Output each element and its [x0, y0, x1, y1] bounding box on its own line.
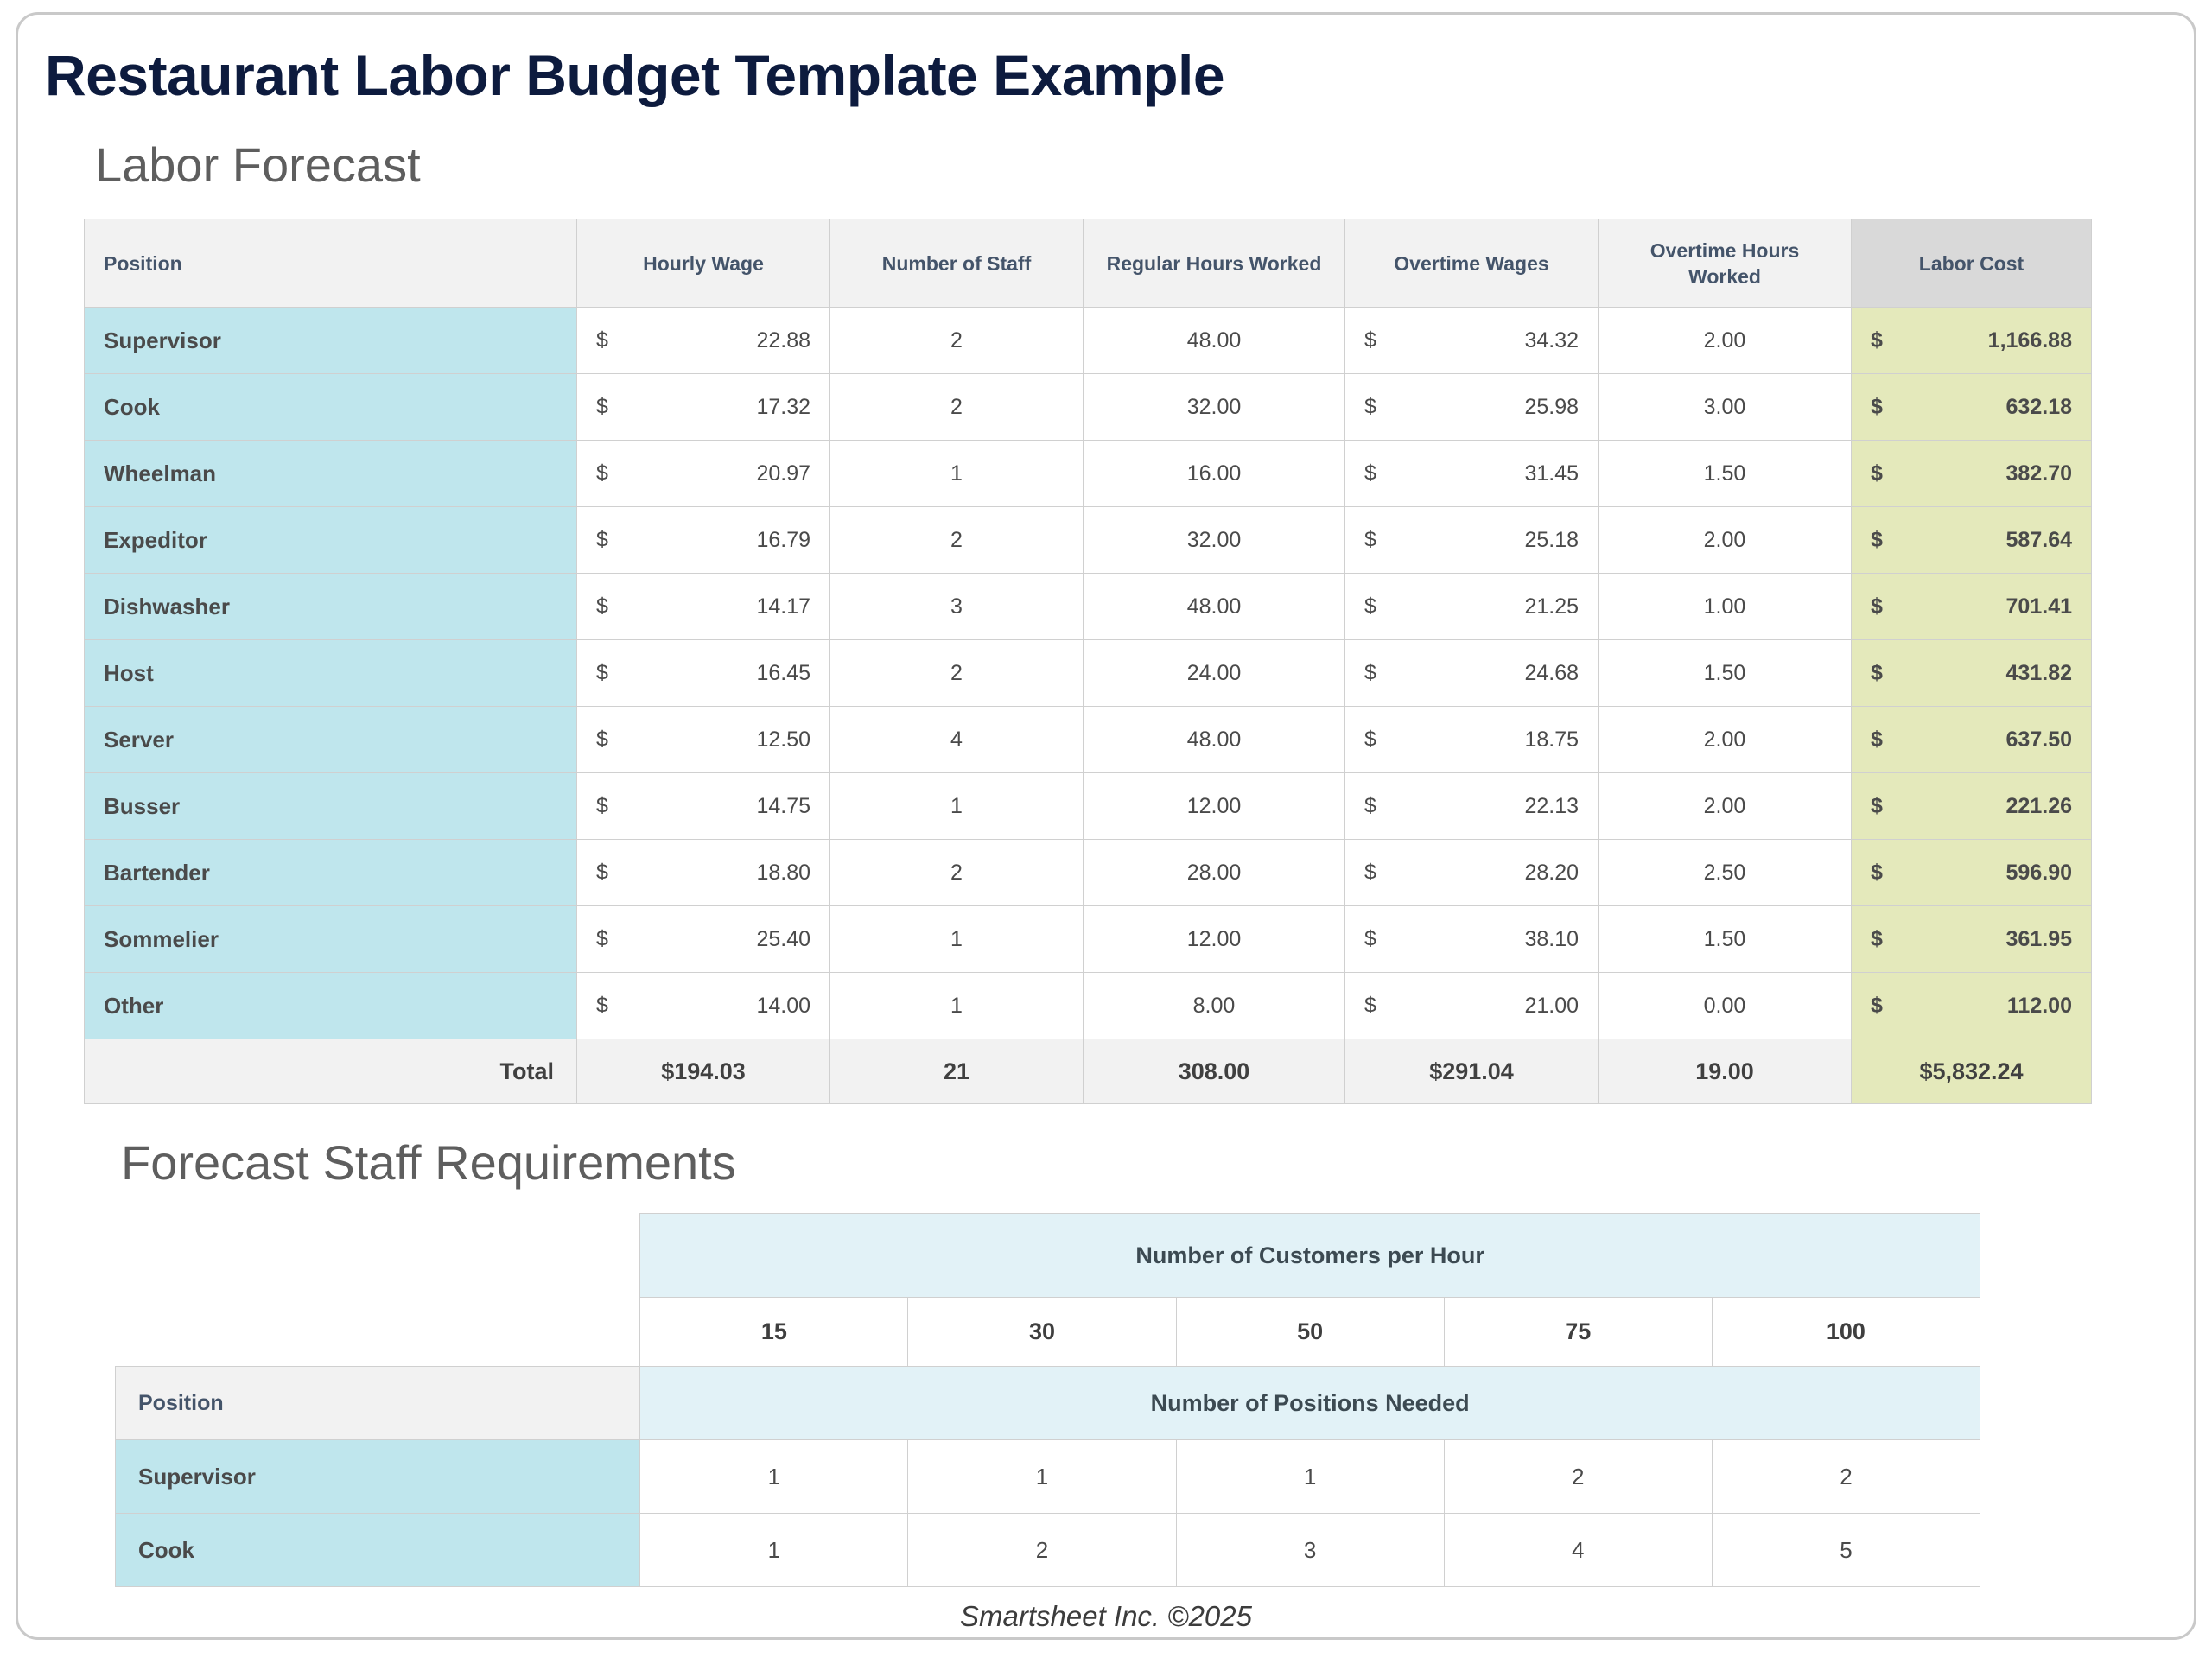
cell-position: Bartender	[85, 840, 577, 906]
cell-position: Busser	[85, 773, 577, 840]
cell-position: Server	[85, 707, 577, 773]
currency-symbol: $	[1871, 861, 1883, 886]
cell-value: 18.75	[1524, 727, 1579, 752]
cell-labor-cost: $361.95	[1852, 906, 2092, 973]
table-row: Cook $17.32 2 32.00 $25.98 3.00 $632.18	[85, 374, 2092, 441]
currency-symbol: $	[1871, 461, 1883, 486]
cell-overtime-wages: $24.68	[1345, 640, 1599, 707]
cell-value: 17.32	[756, 395, 810, 419]
currency-symbol: $	[596, 594, 608, 619]
currency-symbol: $	[596, 395, 608, 420]
cell-overtime-hours: 2.00	[1599, 308, 1852, 374]
cell-number-of-staff: 3	[830, 574, 1084, 640]
column-header-position: Position	[85, 219, 577, 308]
positions-needed-header: Number of Positions Needed	[640, 1367, 1980, 1440]
cell-positions-needed-15: 1	[640, 1440, 908, 1514]
footer-credit: Smartsheet Inc. ©2025	[0, 1600, 2212, 1633]
cell-overtime-wages: $22.13	[1345, 773, 1599, 840]
cell-labor-cost: $701.41	[1852, 574, 2092, 640]
cell-number-of-staff: 2	[830, 374, 1084, 441]
cell-value: 14.00	[756, 994, 810, 1018]
cell-value: 24.68	[1524, 661, 1579, 685]
cell-value: 14.75	[756, 794, 810, 818]
cell-value: 431.82	[2006, 661, 2072, 685]
currency-symbol: $	[1871, 994, 1883, 1019]
cell-hourly-wage: $18.80	[577, 840, 830, 906]
cell-value: 21.00	[1524, 994, 1579, 1018]
cell-number-of-staff: 4	[830, 707, 1084, 773]
cell-positions-needed-75: 4	[1444, 1514, 1712, 1587]
table-row: Wheelman $20.97 1 16.00 $31.45 1.50 $382…	[85, 441, 2092, 507]
cell-overtime-hours: 3.00	[1599, 374, 1852, 441]
cell-overtime-hours: 2.00	[1599, 707, 1852, 773]
cell-hourly-wage: $22.88	[577, 308, 830, 374]
table-row: Cook 1 2 3 4 5	[116, 1514, 1980, 1587]
customers-count-15: 15	[640, 1298, 908, 1367]
column-header-overtime-wages: Overtime Wages	[1345, 219, 1599, 308]
cell-value: 18.80	[756, 861, 810, 885]
cell-position: Expeditor	[85, 507, 577, 574]
currency-symbol: $	[1871, 395, 1883, 420]
cell-labor-cost: $221.26	[1852, 773, 2092, 840]
currency-symbol: $	[1871, 594, 1883, 619]
forecast-staff-requirements-table: Number of Customers per Hour 15 30 50 75…	[115, 1213, 1980, 1587]
currency-symbol: $	[596, 328, 608, 353]
cell-regular-hours: 32.00	[1084, 507, 1345, 574]
currency-symbol: $	[1871, 528, 1883, 553]
cell-position: Host	[85, 640, 577, 707]
cell-labor-cost: $632.18	[1852, 374, 2092, 441]
cell-regular-hours: 28.00	[1084, 840, 1345, 906]
cell-regular-hours: 12.00	[1084, 906, 1345, 973]
staff-requirements-section-title: Forecast Staff Requirements	[121, 1136, 736, 1190]
cell-labor-cost: $587.64	[1852, 507, 2092, 574]
cell-position: Cook	[116, 1514, 640, 1587]
currency-symbol: $	[1364, 395, 1376, 420]
total-overtime-hours: 19.00	[1599, 1039, 1852, 1104]
table-row: Server $12.50 4 48.00 $18.75 2.00 $637.5…	[85, 707, 2092, 773]
cell-value: 16.45	[756, 661, 810, 685]
cell-overtime-hours: 1.00	[1599, 574, 1852, 640]
currency-symbol: $	[1364, 594, 1376, 619]
cell-value: 701.41	[2006, 594, 2072, 619]
cell-positions-needed-15: 1	[640, 1514, 908, 1587]
cell-number-of-staff: 2	[830, 308, 1084, 374]
cell-number-of-staff: 2	[830, 640, 1084, 707]
total-number-of-staff: 21	[830, 1039, 1084, 1104]
cell-value: 632.18	[2006, 395, 2072, 419]
currency-symbol: $	[1364, 727, 1376, 753]
total-labor-cost: $5,832.24	[1852, 1039, 2092, 1104]
cell-position: Cook	[85, 374, 577, 441]
cell-position: Supervisor	[85, 308, 577, 374]
cell-value: 596.90	[2006, 861, 2072, 885]
cell-hourly-wage: $14.17	[577, 574, 830, 640]
cell-regular-hours: 48.00	[1084, 574, 1345, 640]
currency-symbol: $	[1364, 994, 1376, 1019]
cell-number-of-staff: 1	[830, 773, 1084, 840]
total-regular-hours: 308.00	[1084, 1039, 1345, 1104]
spacer-cell	[116, 1298, 640, 1367]
currency-symbol: $	[1871, 727, 1883, 753]
currency-symbol: $	[596, 461, 608, 486]
cell-positions-needed-100: 2	[1712, 1440, 1980, 1514]
table-row: Dishwasher $14.17 3 48.00 $21.25 1.00 $7…	[85, 574, 2092, 640]
page-root: Restaurant Labor Budget Template Example…	[0, 0, 2212, 1658]
labor-forecast-table: Position Hourly Wage Number of Staff Reg…	[84, 219, 2092, 1104]
cell-position: Sommelier	[85, 906, 577, 973]
cell-overtime-wages: $28.20	[1345, 840, 1599, 906]
cell-regular-hours: 48.00	[1084, 707, 1345, 773]
cell-overtime-hours: 2.00	[1599, 773, 1852, 840]
customers-per-hour-header: Number of Customers per Hour	[640, 1214, 1980, 1298]
cell-number-of-staff: 2	[830, 507, 1084, 574]
cell-labor-cost: $637.50	[1852, 707, 2092, 773]
cell-number-of-staff: 1	[830, 906, 1084, 973]
cell-position: Wheelman	[85, 441, 577, 507]
cell-positions-needed-50: 1	[1176, 1440, 1444, 1514]
labor-forecast-body: Supervisor $22.88 2 48.00 $34.32 2.00 $1…	[85, 308, 2092, 1104]
cell-value: 112.00	[2007, 994, 2072, 1018]
customers-count-75: 75	[1444, 1298, 1712, 1367]
cell-regular-hours: 24.00	[1084, 640, 1345, 707]
cell-value: 25.40	[756, 927, 810, 951]
cell-number-of-staff: 1	[830, 973, 1084, 1039]
cell-value: 637.50	[2006, 727, 2072, 752]
currency-symbol: $	[596, 994, 608, 1019]
cell-positions-needed-30: 2	[908, 1514, 1176, 1587]
cell-regular-hours: 32.00	[1084, 374, 1345, 441]
total-label: Total	[85, 1039, 577, 1104]
table-row: Other $14.00 1 8.00 $21.00 0.00 $112.00	[85, 973, 2092, 1039]
cell-hourly-wage: $14.00	[577, 973, 830, 1039]
table-row: Supervisor 1 1 1 2 2	[116, 1440, 1980, 1514]
cell-overtime-wages: $34.32	[1345, 308, 1599, 374]
currency-symbol: $	[596, 727, 608, 753]
cell-regular-hours: 16.00	[1084, 441, 1345, 507]
cell-positions-needed-50: 3	[1176, 1514, 1444, 1587]
cell-number-of-staff: 1	[830, 441, 1084, 507]
customers-values-row: 15 30 50 75 100	[116, 1298, 1980, 1367]
currency-symbol: $	[1364, 661, 1376, 686]
currency-symbol: $	[596, 794, 608, 819]
cell-overtime-hours: 0.00	[1599, 973, 1852, 1039]
currency-symbol: $	[1871, 328, 1883, 353]
cell-positions-needed-30: 1	[908, 1440, 1176, 1514]
cell-value: 16.79	[756, 528, 810, 552]
cell-value: 20.97	[756, 461, 810, 486]
total-overtime-wages: $291.04	[1345, 1039, 1599, 1104]
currency-symbol: $	[1364, 861, 1376, 886]
positions-needed-header-row: Position Number of Positions Needed	[116, 1367, 1980, 1440]
cell-position: Other	[85, 973, 577, 1039]
cell-value: 1,166.88	[1988, 328, 2072, 353]
cell-value: 22.13	[1524, 794, 1579, 818]
customers-count-50: 50	[1176, 1298, 1444, 1367]
cell-positions-needed-75: 2	[1444, 1440, 1712, 1514]
table-total-row: Total $194.03 21 308.00 $291.04 19.00 $5…	[85, 1039, 2092, 1104]
customers-count-100: 100	[1712, 1298, 1980, 1367]
cell-hourly-wage: $25.40	[577, 906, 830, 973]
cell-hourly-wage: $12.50	[577, 707, 830, 773]
cell-value: 14.17	[756, 594, 810, 619]
cell-value: 221.26	[2006, 794, 2072, 818]
spacer-cell	[116, 1214, 640, 1298]
cell-regular-hours: 8.00	[1084, 973, 1345, 1039]
cell-labor-cost: $596.90	[1852, 840, 2092, 906]
cell-overtime-hours: 2.50	[1599, 840, 1852, 906]
cell-labor-cost: $1,166.88	[1852, 308, 2092, 374]
labor-forecast-section-title: Labor Forecast	[95, 138, 421, 192]
customers-header-row: Number of Customers per Hour	[116, 1214, 1980, 1298]
currency-symbol: $	[1364, 927, 1376, 952]
column-header-labor-cost: Labor Cost	[1852, 219, 2092, 308]
cell-overtime-wages: $18.75	[1345, 707, 1599, 773]
column-header-position: Position	[116, 1367, 640, 1440]
cell-value: 38.10	[1524, 927, 1579, 951]
cell-hourly-wage: $16.79	[577, 507, 830, 574]
currency-symbol: $	[1871, 661, 1883, 686]
cell-position: Supervisor	[116, 1440, 640, 1514]
table-row: Expeditor $16.79 2 32.00 $25.18 2.00 $58…	[85, 507, 2092, 574]
staff-requirements-body: Number of Customers per Hour 15 30 50 75…	[116, 1214, 1980, 1587]
currency-symbol: $	[1364, 794, 1376, 819]
currency-symbol: $	[596, 661, 608, 686]
customers-count-30: 30	[908, 1298, 1176, 1367]
table-row: Supervisor $22.88 2 48.00 $34.32 2.00 $1…	[85, 308, 2092, 374]
table-row: Sommelier $25.40 1 12.00 $38.10 1.50 $36…	[85, 906, 2092, 973]
total-hourly-wage: $194.03	[577, 1039, 830, 1104]
currency-symbol: $	[596, 861, 608, 886]
page-title: Restaurant Labor Budget Template Example	[45, 41, 1224, 109]
cell-overtime-wages: $38.10	[1345, 906, 1599, 973]
column-header-regular-hours-worked: Regular Hours Worked	[1084, 219, 1345, 308]
cell-value: 22.88	[756, 328, 810, 353]
table-row: Busser $14.75 1 12.00 $22.13 2.00 $221.2…	[85, 773, 2092, 840]
cell-value: 21.25	[1524, 594, 1579, 619]
cell-value: 25.98	[1524, 395, 1579, 419]
cell-hourly-wage: $20.97	[577, 441, 830, 507]
page-content: Restaurant Labor Budget Template Example…	[0, 0, 2212, 1658]
column-header-hourly-wage: Hourly Wage	[577, 219, 830, 308]
column-header-number-of-staff: Number of Staff	[830, 219, 1084, 308]
currency-symbol: $	[596, 528, 608, 553]
cell-labor-cost: $382.70	[1852, 441, 2092, 507]
cell-overtime-hours: 1.50	[1599, 906, 1852, 973]
cell-overtime-wages: $21.25	[1345, 574, 1599, 640]
table-row: Bartender $18.80 2 28.00 $28.20 2.50 $59…	[85, 840, 2092, 906]
cell-value: 382.70	[2006, 461, 2072, 486]
cell-value: 12.50	[756, 727, 810, 752]
table-row: Host $16.45 2 24.00 $24.68 1.50 $431.82	[85, 640, 2092, 707]
currency-symbol: $	[1364, 461, 1376, 486]
cell-overtime-hours: 1.50	[1599, 441, 1852, 507]
currency-symbol: $	[1871, 927, 1883, 952]
table-header-row: Position Hourly Wage Number of Staff Reg…	[85, 219, 2092, 308]
cell-hourly-wage: $16.45	[577, 640, 830, 707]
currency-symbol: $	[1364, 328, 1376, 353]
cell-overtime-wages: $21.00	[1345, 973, 1599, 1039]
cell-overtime-hours: 2.00	[1599, 507, 1852, 574]
currency-symbol: $	[1364, 528, 1376, 553]
cell-value: 28.20	[1524, 861, 1579, 885]
cell-regular-hours: 48.00	[1084, 308, 1345, 374]
cell-value: 361.95	[2006, 927, 2072, 951]
cell-number-of-staff: 2	[830, 840, 1084, 906]
currency-symbol: $	[596, 927, 608, 952]
cell-overtime-wages: $31.45	[1345, 441, 1599, 507]
cell-value: 34.32	[1524, 328, 1579, 353]
cell-overtime-wages: $25.98	[1345, 374, 1599, 441]
currency-symbol: $	[1871, 794, 1883, 819]
cell-overtime-wages: $25.18	[1345, 507, 1599, 574]
cell-value: 587.64	[2006, 528, 2072, 552]
cell-value: 25.18	[1524, 528, 1579, 552]
cell-hourly-wage: $14.75	[577, 773, 830, 840]
labor-forecast-header: Position Hourly Wage Number of Staff Reg…	[85, 219, 2092, 308]
cell-labor-cost: $112.00	[1852, 973, 2092, 1039]
cell-positions-needed-100: 5	[1712, 1514, 1980, 1587]
cell-value: 31.45	[1524, 461, 1579, 486]
cell-regular-hours: 12.00	[1084, 773, 1345, 840]
cell-position: Dishwasher	[85, 574, 577, 640]
cell-overtime-hours: 1.50	[1599, 640, 1852, 707]
cell-hourly-wage: $17.32	[577, 374, 830, 441]
cell-labor-cost: $431.82	[1852, 640, 2092, 707]
column-header-overtime-hours-worked: Overtime Hours Worked	[1599, 219, 1852, 308]
